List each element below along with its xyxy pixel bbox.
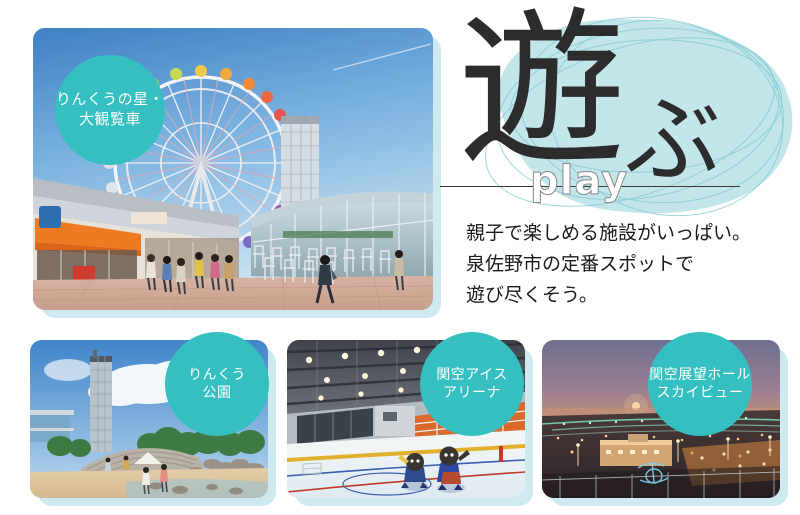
badge-park-line1: りんくう — [188, 366, 246, 384]
badge-sky-view[interactable]: 関空展望ホール スカイビュー — [648, 332, 752, 436]
badge-arena-line2: アリーナ — [443, 384, 501, 402]
lede-paragraph: 親子で楽しめる施設がいっぱい。 泉佐野市の定番スポットで 遊び尽くそう。 — [466, 218, 796, 310]
badge-skyview-line2: スカイビュー — [657, 384, 744, 402]
badge-ferris-line1: りんくうの星・ — [56, 90, 164, 110]
badge-skyview-line1: 関空展望ホール — [649, 366, 751, 384]
headline-kana-bu: ぶ — [625, 92, 721, 188]
poster-canvas: りんくうの星・ 大観覧車 遊 ぶ play 親子で楽しめる施設がいっぱい。 泉佐… — [0, 0, 800, 515]
badge-ferris-wheel[interactable]: りんくうの星・ 大観覧車 — [55, 55, 165, 165]
badge-arena-line1: 関空アイス — [436, 366, 507, 384]
headline-romaji-play: play — [530, 158, 628, 204]
headline-kanji-asobu: 遊 — [458, 6, 626, 174]
lede-line-1: 親子で楽しめる施設がいっぱい。 — [466, 218, 796, 249]
badge-ice-arena[interactable]: 関空アイス アリーナ — [420, 332, 524, 436]
badge-rinku-park[interactable]: りんくう 公園 — [165, 332, 269, 436]
badge-park-line2: 公園 — [203, 384, 232, 402]
lede-line-2: 泉佐野市の定番スポットで — [466, 249, 796, 280]
lede-line-3: 遊び尽くそう。 — [466, 280, 796, 311]
badge-ferris-line2: 大観覧車 — [79, 110, 141, 130]
